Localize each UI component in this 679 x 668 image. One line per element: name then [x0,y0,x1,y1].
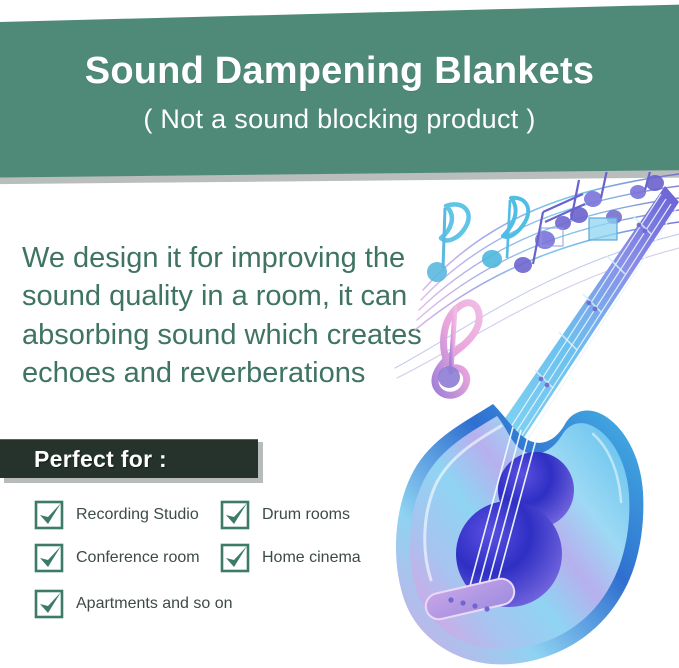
staff-accent-squares [541,218,617,246]
perfect-for-label: Perfect for : [34,446,167,473]
product-infographic: Sound Dampening Blankets ( Not a sound b… [0,0,679,668]
eighth-note-icon [503,198,528,258]
guitar-bridge [423,576,517,622]
list-item-label: Apartments and so on [76,595,233,613]
check-square-icon [36,545,62,571]
perfect-for-banner-fill: Perfect for : [0,439,258,478]
description-text: We design it for improving the sound qua… [22,239,442,392]
check-square-icon [222,545,248,571]
list-item-label: Conference room [76,549,200,567]
sound-hole-upper [498,452,574,528]
list-item-label: Drum rooms [262,506,350,524]
list-item: Drum rooms [222,502,350,528]
list-item: Home cinema [222,545,361,571]
list-item: Apartments and so on [36,591,233,617]
header-banner: Sound Dampening Blankets ( Not a sound b… [0,0,679,186]
check-square-icon [222,502,248,528]
check-square-icon [36,591,62,617]
perfect-for-banner: Perfect for : [0,437,266,485]
page-subtitle: ( Not a sound blocking product ) [143,104,535,135]
check-square-icon [36,502,62,528]
header-banner-content: Sound Dampening Blankets ( Not a sound b… [0,0,679,183]
guitar-neck [501,186,679,445]
list-item-label: Recording Studio [76,506,199,524]
list-item: Conference room [36,545,200,571]
guitar-body [396,404,643,664]
sound-hole-lower [456,501,562,607]
page-title: Sound Dampening Blankets [85,52,594,92]
music-note-heads [482,175,664,273]
list-item: Recording Studio [36,502,199,528]
list-item-label: Home cinema [262,549,361,567]
